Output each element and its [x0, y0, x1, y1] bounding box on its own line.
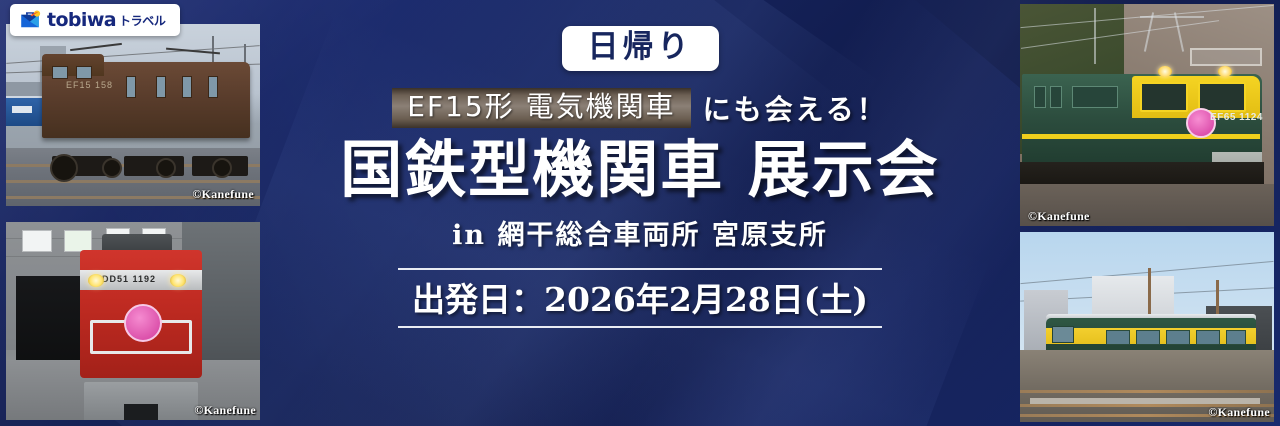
photo-wheel	[102, 158, 122, 178]
photo-window	[182, 76, 192, 98]
brand-logo[interactable]: tobiwa トラベル	[10, 4, 180, 36]
photo-unit-number: EF65 1124	[1210, 112, 1263, 123]
photo-sign	[22, 230, 52, 252]
photo-catenary-pole	[1094, 8, 1096, 64]
photo-fence	[1190, 48, 1262, 66]
locomotive-type-tag-label: EF15形 電気機関車	[407, 90, 675, 123]
day-trip-badge-label: 日帰り	[588, 29, 693, 65]
photo-window	[156, 76, 166, 98]
photo-window	[208, 76, 218, 98]
photo-window	[52, 66, 68, 79]
photo-coupler	[124, 404, 158, 420]
photo-credit: ©Kanefune	[194, 403, 256, 418]
photo-louver	[1072, 86, 1118, 108]
brand-logo-text: tobiwa	[47, 11, 116, 30]
photo-headmark	[124, 304, 162, 342]
page-title: 国鉄型機関車 展示会	[340, 137, 940, 202]
photo-ef65-green-locomotive: EF65 1124 ©Kanefune	[1020, 4, 1274, 226]
travel-campaign-banner[interactable]: EF15 158 ©Kanefune DD51 1192 ©Kanefune	[0, 0, 1280, 426]
photo-window	[76, 66, 92, 79]
banner-content: 日帰り EF15形 電気機関車 にも会える！ 国鉄型機関車 展示会 in 網干総…	[266, 0, 1014, 426]
photo-headlight	[1158, 66, 1172, 77]
photo-rail	[6, 180, 260, 183]
photo-credit: ©Kanefune	[192, 187, 254, 202]
photo-credit: ©Kanefune	[1208, 405, 1270, 420]
photo-window	[1034, 86, 1046, 108]
photo-wheel	[212, 158, 232, 178]
photo-ef15-brown-locomotive: EF15 158 ©Kanefune	[6, 24, 260, 206]
photo-headlight	[170, 274, 186, 287]
headline-secondary-row: EF15形 電気機関車 にも会える！	[392, 88, 888, 129]
photo-window	[1198, 82, 1246, 112]
photo-salon-car-naniwa: ©Kanefune	[1020, 232, 1274, 422]
venue-subtitle: in 網干総合車両所 宮原支所	[452, 213, 828, 252]
photo-unit-number: DD51 1192	[102, 274, 156, 284]
headline-tail-text: にも会える！	[703, 88, 888, 128]
brand-logo-subtext: トラベル	[119, 12, 165, 29]
photo-window	[126, 76, 136, 98]
suitcase-icon	[18, 8, 42, 32]
photo-rail	[1020, 390, 1274, 393]
photo-window	[1106, 330, 1130, 345]
photo-wheel	[156, 158, 176, 178]
photo-headlight	[1218, 66, 1232, 77]
photo-headlight	[88, 274, 104, 287]
photo-window	[1050, 86, 1062, 108]
photo-sign	[64, 230, 92, 252]
photo-window	[1196, 330, 1220, 345]
photo-dd51-red-locomotive: DD51 1192 ©Kanefune	[6, 222, 260, 420]
photo-window	[1166, 330, 1190, 345]
photo-window	[1226, 330, 1246, 345]
locomotive-type-tag: EF15形 電気機関車	[392, 88, 690, 129]
photo-pantograph	[1140, 16, 1204, 18]
photo-wheel	[50, 154, 78, 182]
photo-unit-number: EF15 158	[66, 80, 113, 90]
photo-sleeper	[1030, 398, 1260, 404]
photo-cab-window	[1052, 326, 1074, 343]
photo-window	[1136, 330, 1160, 345]
photo-window	[1140, 82, 1188, 112]
departure-date-label: 出発日：2026年2月28日(土)	[412, 280, 868, 319]
departure-date: 出発日：2026年2月28日(土)	[398, 268, 882, 328]
photo-yellow-stripe	[1022, 134, 1260, 139]
photo-credit: ©Kanefune	[1028, 209, 1090, 224]
day-trip-badge: 日帰り	[562, 26, 719, 71]
